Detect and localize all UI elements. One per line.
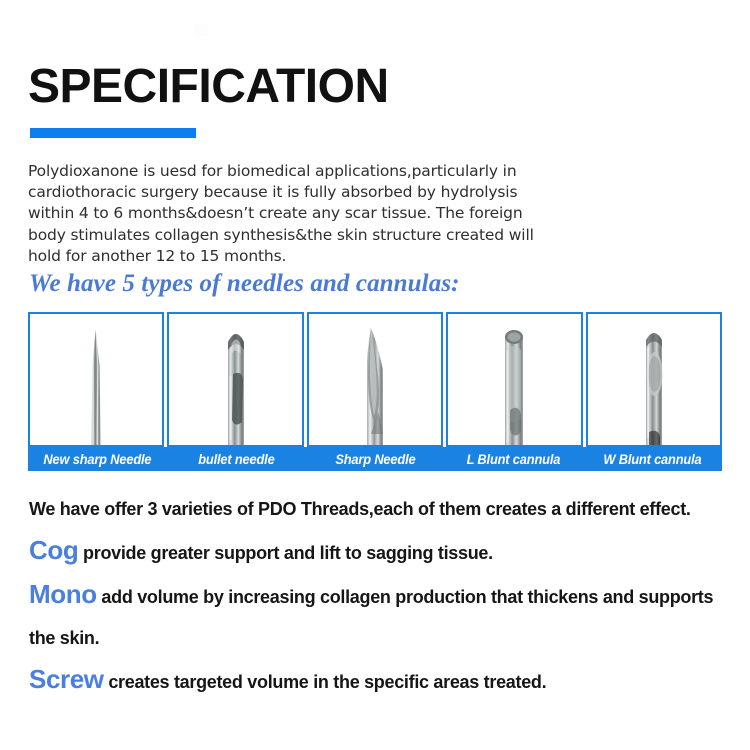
thread-item-mono: Mono add volume by increasing collagen p… [29,574,729,659]
thread-item-screw: Screw creates targeted volume in the spe… [29,659,729,703]
needle-cell-l-blunt-cannula [446,312,582,447]
page-title: SPECIFICATION [28,63,389,111]
needle-caption-bar: New sharp Needle bullet needle Sharp Nee… [28,447,722,471]
thread-keyword-mono: Mono [29,579,97,609]
needle-caption-bullet-needle: bullet needle [172,447,300,471]
specification-page: SPECIFICATION Polydioxanone is uesd for … [0,0,750,750]
needle-caption-sharp-needle: Sharp Needle [311,447,439,471]
needle-cell-new-sharp-needle [28,312,164,447]
needle-cell-w-blunt-cannula [586,312,722,447]
thread-description-cog: provide greater support and lift to sagg… [83,543,493,563]
needle-cell-sharp-needle [307,312,443,447]
needle-cell-bullet-needle [167,312,303,447]
needle-image-row [28,312,722,447]
needle-caption-new-sharp-needle: New sharp Needle [34,447,162,471]
needle-caption-l-blunt-cannula: L Blunt cannula [450,447,578,471]
thread-description-screw: creates targeted volume in the specific … [108,672,546,692]
threads-section: We have offer 3 varieties of PDO Threads… [29,489,729,703]
intro-paragraph: Polydioxanone is uesd for biomedical app… [28,161,548,267]
title-underline-bar [30,128,196,138]
needle-types-grid: New sharp Needle bullet needle Sharp Nee… [28,312,722,471]
types-heading: We have 5 types of needles and cannulas: [29,270,460,298]
faint-artifact [194,24,208,36]
thread-item-cog: Cog provide greater support and lift to … [29,530,729,574]
thread-description-mono: add volume by increasing collagen produc… [29,587,713,648]
needle-caption-w-blunt-cannula: W Blunt cannula [589,447,717,471]
thread-keyword-cog: Cog [29,535,78,565]
threads-lead-text: We have offer 3 varieties of PDO Threads… [29,489,719,530]
thread-keyword-screw: Screw [29,664,104,694]
